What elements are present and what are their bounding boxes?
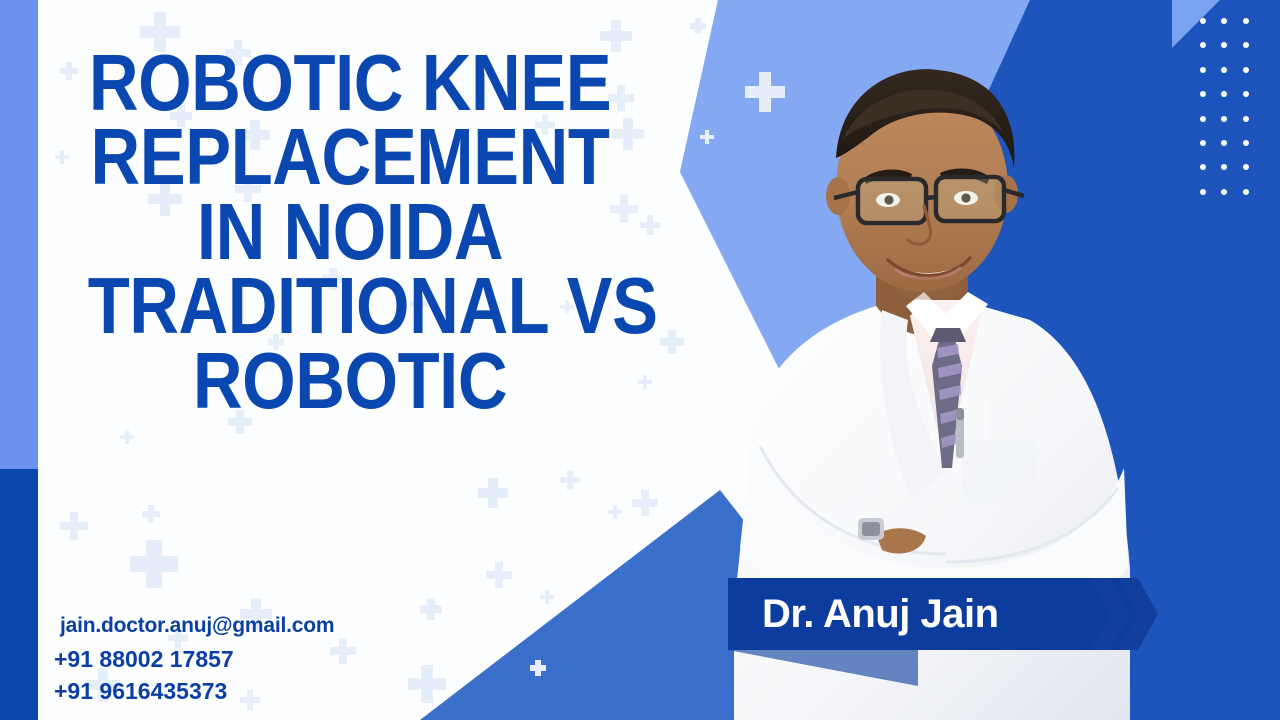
headline-line-3: IN NOIDA bbox=[88, 195, 613, 269]
grid-dot bbox=[1221, 67, 1227, 73]
grid-dot bbox=[1243, 67, 1249, 73]
grid-dot bbox=[1200, 91, 1206, 97]
headline-line-2: REPLACEMENT bbox=[88, 120, 613, 194]
grid-dot bbox=[1243, 140, 1249, 146]
grid-dot bbox=[1243, 189, 1249, 195]
contact-phone-2[interactable]: +91 9616435373 bbox=[54, 676, 334, 708]
grid-dot bbox=[1200, 140, 1206, 146]
page-title: ROBOTIC KNEE REPLACEMENT IN NOIDA TRADIT… bbox=[88, 46, 613, 418]
doctor-name-label: Dr. Anuj Jain bbox=[728, 592, 999, 637]
grid-dot bbox=[1221, 18, 1227, 24]
dot-grid-decoration bbox=[1200, 18, 1264, 213]
grid-dot bbox=[1200, 18, 1206, 24]
poster-canvas: ROBOTIC KNEE REPLACEMENT IN NOIDA TRADIT… bbox=[0, 0, 1280, 720]
grid-dot bbox=[1221, 164, 1227, 170]
grid-dot bbox=[1243, 42, 1249, 48]
grid-dot bbox=[1243, 164, 1249, 170]
grid-dot bbox=[1200, 67, 1206, 73]
headline-line-5: ROBOTIC bbox=[88, 344, 613, 418]
contact-email[interactable]: jain.doctor.anuj@gmail.com bbox=[54, 614, 334, 638]
grid-dot bbox=[1243, 116, 1249, 122]
grid-dot bbox=[1221, 140, 1227, 146]
grid-dot bbox=[1200, 116, 1206, 122]
grid-dot bbox=[1221, 91, 1227, 97]
left-accent-bar-dark bbox=[0, 469, 38, 720]
grid-dot bbox=[1221, 116, 1227, 122]
grid-dot bbox=[1243, 91, 1249, 97]
contact-block: jain.doctor.anuj@gmail.com +91 88002 178… bbox=[54, 614, 334, 707]
doctor-name-banner: Dr. Anuj Jain bbox=[728, 578, 1118, 650]
headline-line-4: TRADITIONAL VS bbox=[88, 269, 613, 343]
grid-dot bbox=[1200, 42, 1206, 48]
name-banner-body: Dr. Anuj Jain bbox=[728, 578, 1118, 650]
left-accent-bar-light bbox=[0, 0, 38, 469]
grid-dot bbox=[1221, 42, 1227, 48]
grid-dot bbox=[1221, 189, 1227, 195]
grid-dot bbox=[1243, 18, 1249, 24]
headline-line-1: ROBOTIC KNEE bbox=[88, 46, 613, 120]
contact-phone-1[interactable]: +91 88002 17857 bbox=[54, 644, 334, 676]
grid-dot bbox=[1200, 164, 1206, 170]
grid-dot bbox=[1200, 189, 1206, 195]
